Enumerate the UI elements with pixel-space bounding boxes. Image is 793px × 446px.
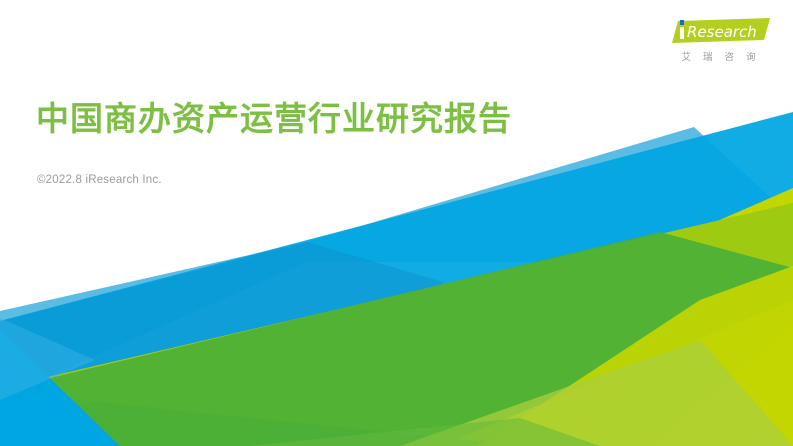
copyright-notice: ©2022.8 iResearch Inc. [37, 174, 162, 186]
iresearch-logo: Research 艾 瑞 咨 询 [666, 18, 771, 63]
report-cover: Research 艾 瑞 咨 询 中国商办资产运营行业研究报告 ©2022.8 … [0, 0, 793, 446]
logo-plate: Research [670, 18, 770, 44]
page-title: 中国商办资产运营行业研究报告 [36, 98, 512, 140]
logo-i-stem [680, 27, 684, 39]
abstract-mountain-polygons [0, 0, 793, 446]
logo-wordmark: Research [687, 23, 757, 41]
logo-plate-svg: Research [670, 18, 770, 44]
logo-i-dot-icon [680, 20, 684, 25]
logo-subtitle-chinese: 艾 瑞 咨 询 [666, 49, 771, 63]
